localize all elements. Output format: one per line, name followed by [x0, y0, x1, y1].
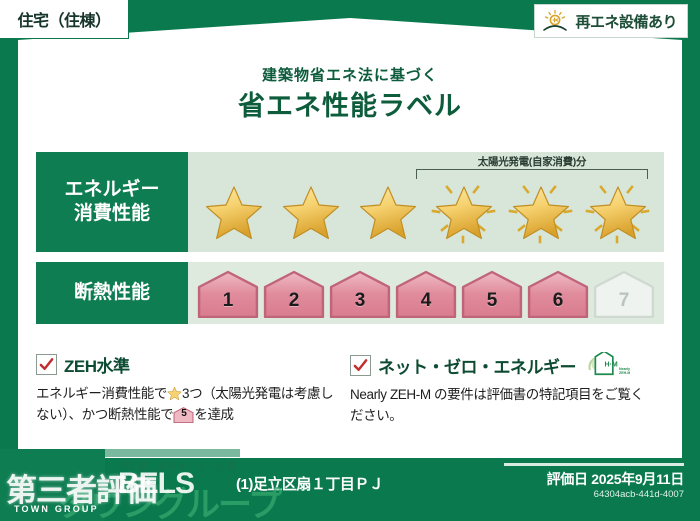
check-icon — [39, 357, 54, 372]
inline-grade-value: 5 — [173, 407, 194, 423]
watermark-overlay: ひと息、まちを、もっと豊かに。 タウングループ 第三者評価 BELS TOWN … — [0, 449, 240, 521]
star-item — [275, 180, 347, 246]
energy-row-label-line2: 消費性能 — [74, 202, 150, 226]
star-item-solar — [582, 180, 654, 246]
renewable-energy-badge: 再エネ設備あり — [534, 4, 688, 38]
grade-value: 4 — [421, 290, 432, 318]
evaluation-id: 64304acb-441d-4007 — [594, 489, 684, 500]
insulation-row-label: 断熱性能 — [36, 262, 188, 324]
note-text-part1: エネルギー消費性能で — [36, 386, 167, 401]
energy-row-body: 太陽光発電(自家消費)分 — [188, 152, 664, 252]
grade-item: 1 — [196, 270, 260, 318]
star-item — [352, 180, 424, 246]
star-icon — [358, 184, 418, 242]
svg-text:H·M: H·M — [605, 362, 618, 369]
svg-text:ZEH-M: ZEH-M — [619, 371, 630, 375]
grade-item: 2 — [262, 270, 326, 318]
note-zeh-standard: ZEH水準 エネルギー消費性能で3つ（太陽光発電は考慮しない）、かつ断熱性能で5… — [36, 352, 350, 427]
grade-value: 5 — [487, 290, 498, 318]
grade-value: 1 — [223, 290, 234, 318]
note-header: ネット・ゼロ・エネルギー H·M Nearly ZEH-M — [350, 352, 650, 378]
note-net-zero-energy: ネット・ゼロ・エネルギー H·M Nearly ZEH-M Nearly ZEH… — [350, 352, 664, 427]
evaluation-date-value: 2025年9月11日 — [591, 471, 684, 487]
star-icon — [511, 184, 571, 242]
insulation-performance-row: 断熱性能 1 2 — [36, 262, 664, 324]
grade-item-inactive: 7 — [592, 270, 656, 318]
star-item-solar — [505, 180, 577, 246]
grade-value: 7 — [619, 290, 630, 318]
energy-row-label-line1: エネルギー — [64, 178, 159, 202]
energy-performance-row: エネルギー 消費性能 太陽光発電(自家消費)分 — [36, 152, 664, 252]
inline-grade-badge: 5 — [173, 407, 194, 423]
check-icon — [353, 358, 368, 373]
note-title: ZEH水準 — [64, 352, 130, 377]
grade-item: 3 — [328, 270, 392, 318]
building-type-tab: 住宅（住棟） — [0, 0, 129, 39]
energy-row-label: エネルギー 消費性能 — [36, 152, 188, 252]
star-item-solar — [428, 180, 500, 246]
star-icon — [588, 184, 648, 242]
grade-item: 6 — [526, 270, 590, 318]
footer-divider — [504, 463, 684, 466]
note-body: エネルギー消費性能で3つ（太陽光発電は考慮しない）、かつ断熱性能で5を達成 — [36, 384, 336, 426]
grade-value: 3 — [355, 290, 366, 318]
sun-icon — [541, 9, 569, 33]
star-item — [198, 180, 270, 246]
insulation-row-body: 1 2 3 4 — [188, 262, 664, 324]
star-icon — [434, 184, 494, 242]
solar-bracket-label: 太陽光発電(自家消費)分 — [416, 154, 648, 169]
checkbox-net-zero[interactable] — [350, 355, 371, 376]
grade-item: 4 — [394, 270, 458, 318]
note-title: ネット・ゼロ・エネルギー — [378, 353, 576, 378]
grade-value: 2 — [289, 290, 300, 318]
note-body: Nearly ZEH-M の要件は評価書の特記項目をご覧ください。 — [350, 385, 650, 427]
notes-section: ZEH水準 エネルギー消費性能で3つ（太陽光発電は考慮しない）、かつ断熱性能で5… — [36, 352, 664, 427]
solar-bracket — [416, 169, 648, 179]
energy-performance-label: 住宅（住棟） 再エネ設備あり 建築物省エネ法に基づく 省エネ性能ラベル エネルギ… — [0, 0, 700, 521]
watermark-bels-text: BELS — [118, 467, 194, 501]
grade-item: 5 — [460, 270, 524, 318]
star-rating — [198, 180, 654, 246]
label-subtitle: 建築物省エネ法に基づく — [0, 64, 700, 85]
solar-bracket-group: 太陽光発電(自家消費)分 — [416, 154, 648, 180]
evaluation-date-label: 評価日 — [547, 471, 588, 487]
star-icon — [204, 184, 264, 242]
checkbox-zeh[interactable] — [36, 354, 57, 375]
page-title: 省エネ性能ラベル — [0, 84, 700, 123]
renewable-badge-label: 再エネ設備あり — [575, 11, 677, 32]
note-text-part3: を達成 — [194, 407, 233, 422]
grade-value: 6 — [553, 290, 564, 318]
grade-scale: 1 2 3 4 — [196, 268, 656, 319]
evaluation-date: 評価日 2025年9月11日 — [547, 469, 684, 489]
note-header: ZEH水準 — [36, 352, 336, 377]
brand-logo-text: TOWN GROUP — [14, 504, 99, 514]
zeh-house-logo-icon: H·M Nearly ZEH-M — [588, 352, 630, 378]
star-icon — [167, 386, 182, 401]
star-icon — [281, 184, 341, 242]
